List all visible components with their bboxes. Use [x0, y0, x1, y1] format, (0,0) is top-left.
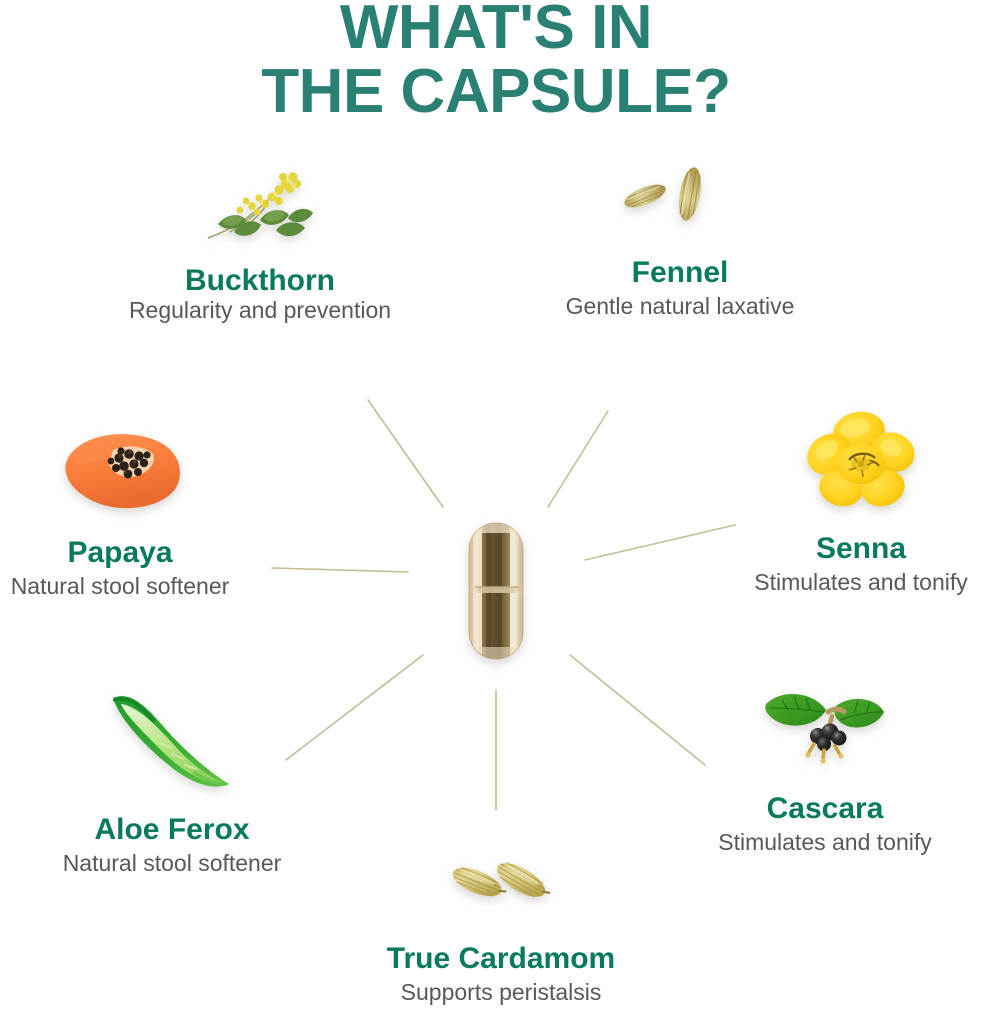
ingredient-desc: Supports peristalsis [341, 979, 661, 1007]
spoke-line-papaya [272, 568, 408, 572]
spoke-line-buckthorn [368, 400, 443, 507]
ingredient-desc: Regularity and prevention [105, 297, 415, 325]
ingredient-name: Fennel [525, 256, 835, 289]
capsule-icon [465, 521, 527, 661]
spoke-line-fennel [548, 411, 608, 507]
fennel-seeds-icon [625, 160, 735, 232]
ingredient-papaya: Papaya Natural stool softener [0, 430, 275, 601]
ingredient-aloe-ferox: Aloe Ferox Natural stool softener [22, 688, 322, 878]
ingredient-senna: Senna Stimulates and tonify [730, 408, 992, 597]
ingredient-desc: Gentle natural laxative [525, 293, 835, 321]
ingredient-true-cardamom: True Cardamom Supports peristalsis [341, 848, 661, 1007]
capsule-illustration [465, 521, 527, 661]
aloe-leaf-icon [97, 688, 247, 793]
ingredient-name: Cascara [680, 792, 970, 825]
ingredient-desc: Natural stool softener [0, 573, 275, 601]
page-title-line-1: WHAT'S IN [340, 0, 652, 62]
ingredient-desc: Stimulates and tonify [680, 829, 970, 857]
page-title-line-2: THE CAPSULE? [0, 60, 992, 124]
ingredient-name: Senna [730, 532, 992, 565]
ingredient-fennel: Fennel Gentle natural laxative [525, 160, 835, 321]
spoke-line-senna [585, 525, 735, 560]
ingredient-desc: Stimulates and tonify [730, 569, 992, 597]
ingredient-name: Buckthorn [105, 264, 415, 297]
infographic-canvas: WHAT'S IN THE CAPSULE? [0, 0, 992, 1024]
ingredient-name: Aloe Ferox [22, 813, 322, 846]
ingredient-buckthorn: Buckthorn Regularity and prevention [105, 168, 415, 325]
ingredient-desc: Natural stool softener [22, 850, 322, 878]
ingredient-cascara: Cascara Stimulates and tonify [680, 686, 970, 857]
papaya-slice-icon [53, 430, 188, 512]
cardamom-pods-icon [441, 848, 561, 920]
senna-flower-icon [801, 408, 921, 518]
ingredient-name: Papaya [0, 536, 275, 569]
cascara-berries-icon [760, 686, 890, 774]
buckthorn-sprig-icon [200, 168, 320, 246]
page-title: WHAT'S IN THE CAPSULE? [0, 0, 992, 124]
ingredient-name: True Cardamom [341, 942, 661, 975]
